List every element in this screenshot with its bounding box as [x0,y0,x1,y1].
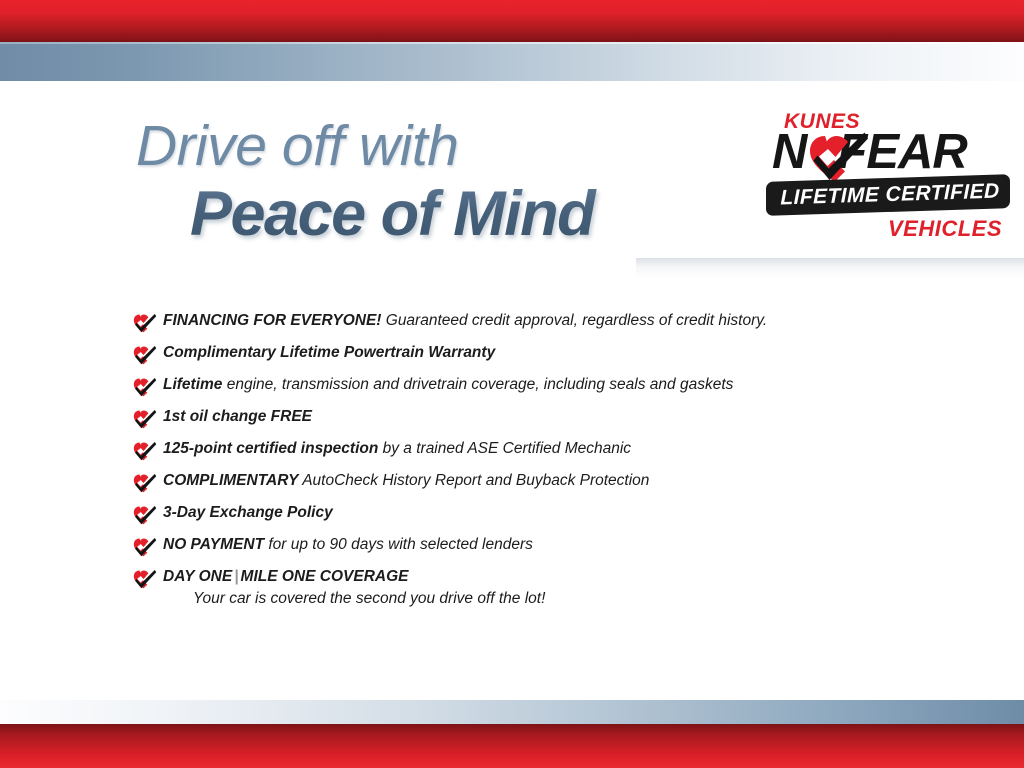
benefit-text: 125-point certified inspection by a trai… [163,439,963,459]
benefit-item-exchange-policy: 3-Day Exchange Policy [133,503,963,535]
benefit-text: DAY ONE|MILE ONE COVERAGE [163,567,963,587]
benefit-lead: 3-Day Exchange Policy [163,504,333,521]
benefit-subtext: Your car is covered the second you drive… [193,588,963,609]
benefit-item-day-one-mile-one: DAY ONE|MILE ONE COVERAGE Your car is co… [133,567,963,609]
benefit-lead: Lifetime [163,376,222,393]
kunes-no-fear-logo: KUNES NFEAR LIFETIME CERTIFIED VEHICLES [762,106,1014,246]
benefit-item-inspection: 125-point certified inspection by a trai… [133,439,963,471]
top-banner [0,0,1024,81]
benefit-item-lifetime-coverage: Lifetime engine, transmission and drivet… [133,375,963,407]
benefits-list: FINANCING FOR EVERYONE! Guaranteed credi… [133,311,963,609]
benefit-item-financing: FINANCING FOR EVERYONE! Guaranteed credi… [133,311,963,343]
heart-check-icon [133,473,157,494]
heart-check-icon [133,345,157,366]
heart-check-icon [133,377,157,398]
benefit-text: COMPLIMENTARY AutoCheck History Report a… [163,471,963,491]
benefit-rest: by a trained ASE Certified Mechanic [378,440,631,457]
bottom-blue-gradient-stripe [0,700,1024,724]
benefit-lead: COMPLIMENTARY [163,472,298,489]
benefit-item-powertrain-warranty: Complimentary Lifetime Powertrain Warran… [133,343,963,375]
heart-check-icon [133,569,157,590]
headline-block: Drive off with Peace of Mind [136,118,756,246]
benefit-item-autocheck: COMPLIMENTARY AutoCheck History Report a… [133,471,963,503]
heart-check-icon [133,537,157,558]
heart-check-icon [133,441,157,462]
benefit-text: NO PAYMENT for up to 90 days with select… [163,535,963,555]
benefit-lead: DAY ONE [163,568,232,585]
benefit-rest: Guaranteed credit approval, regardless o… [381,312,767,329]
benefit-rest: for up to 90 days with selected lenders [264,536,533,553]
top-red-stripe [0,0,1024,42]
benefit-lead: 1st oil change FREE [163,408,312,425]
heart-check-icon [808,130,870,186]
benefit-rest: AutoCheck History Report and Buyback Pro… [298,472,649,489]
logo-word-vehicles: VEHICLES [762,216,1002,242]
bottom-red-stripe [0,724,1024,768]
benefit-text: FINANCING FOR EVERYONE! Guaranteed credi… [163,311,963,331]
benefit-rest: engine, transmission and drivetrain cove… [222,376,733,393]
benefit-lead: 125-point certified inspection [163,440,378,457]
benefit-text: Complimentary Lifetime Powertrain Warran… [163,343,963,363]
heart-check-icon [133,313,157,334]
benefit-separator: | [232,568,240,585]
headline-line-2: Peace of Mind [190,183,756,246]
benefit-item-no-payment: NO PAYMENT for up to 90 days with select… [133,535,963,567]
benefit-item-oil-change: 1st oil change FREE [133,407,963,439]
benefit-lead: FINANCING FOR EVERYONE! [163,312,381,329]
benefit-text: Lifetime engine, transmission and drivet… [163,375,963,395]
headline-shadow-band [636,258,1024,278]
headline-line-1: Drive off with [136,118,756,175]
top-stripe-highlight [0,42,1024,44]
benefit-lead-2: MILE ONE COVERAGE [241,568,409,585]
heart-check-icon [133,505,157,526]
heart-check-icon [133,409,157,430]
benefit-text: 1st oil change FREE [163,407,963,427]
benefit-lead: NO PAYMENT [163,536,264,553]
benefit-text: 3-Day Exchange Policy [163,503,963,523]
benefit-lead: Complimentary Lifetime Powertrain Warran… [163,344,495,361]
bottom-banner [0,700,1024,768]
top-blue-gradient-stripe [0,42,1024,81]
